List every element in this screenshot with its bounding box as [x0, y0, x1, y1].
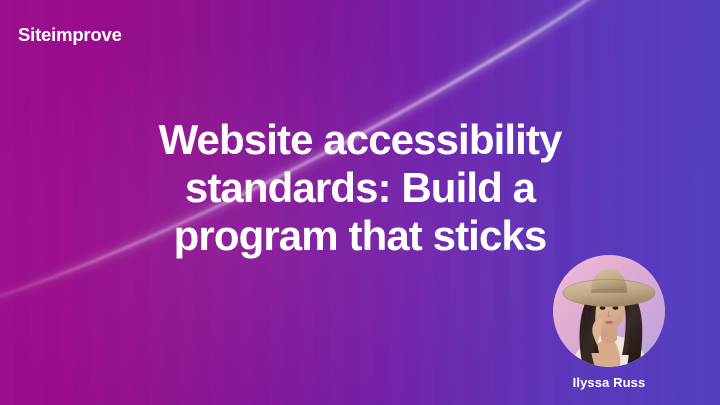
avatar [553, 255, 665, 367]
presentation-slide: Siteimprove Website accessibility standa… [0, 0, 720, 405]
siteimprove-logo: Siteimprove [18, 26, 122, 45]
title-line-3: program that sticks [60, 212, 660, 260]
title-line-2: standards: Build a [60, 164, 660, 212]
speaker-block: Ilyssa Russ [553, 255, 665, 391]
title-line-1: Website accessibility [60, 116, 660, 164]
page-title: Website accessibility standards: Build a… [0, 116, 720, 260]
speaker-name: Ilyssa Russ [553, 375, 665, 391]
